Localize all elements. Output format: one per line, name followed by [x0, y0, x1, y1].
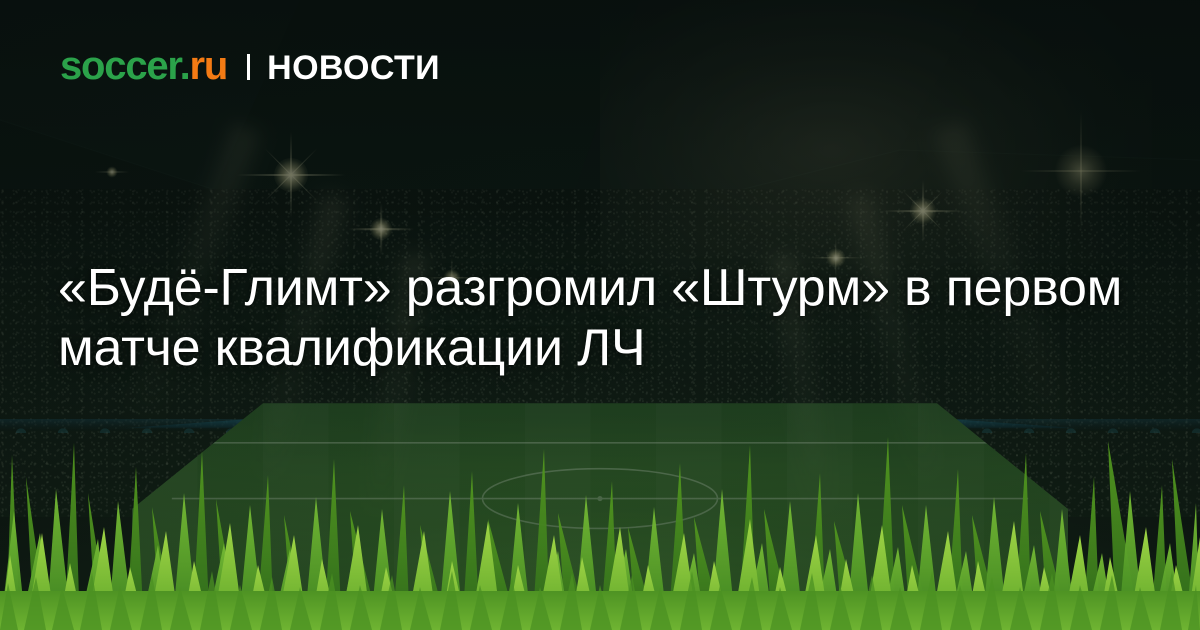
brand-separator-icon: [247, 54, 250, 80]
logo-name: soccer: [60, 44, 180, 88]
section-label-news[interactable]: НОВОСТИ: [267, 51, 440, 85]
brand-bar[interactable]: soccer.ru НОВОСТИ: [60, 46, 440, 86]
page-title: «Будё-Глимт» разгромил «Штурм» в первом …: [58, 258, 1130, 379]
card-content: soccer.ru НОВОСТИ «Будё-Глимт» разгромил…: [0, 0, 1200, 630]
news-share-card: soccer.ru НОВОСТИ «Будё-Глимт» разгромил…: [0, 0, 1200, 630]
logo-tld: ru: [190, 44, 228, 88]
logo-dot: .: [180, 44, 190, 88]
soccer-ru-logo[interactable]: soccer.ru: [60, 46, 227, 86]
